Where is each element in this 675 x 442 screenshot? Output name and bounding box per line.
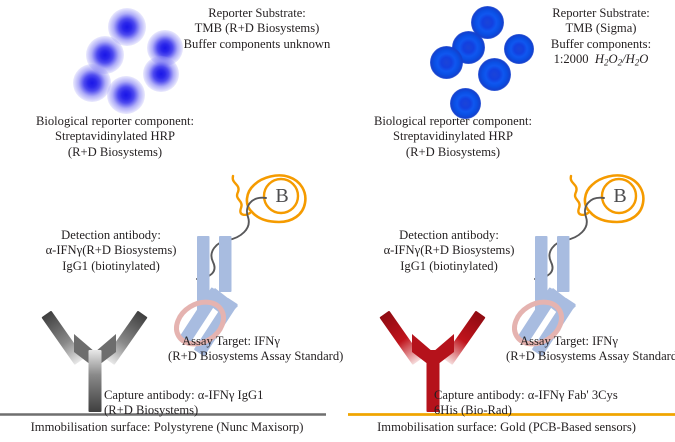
substrate-line-1: Reporter Substrate:: [528, 6, 674, 21]
substrate-line-2: TMB (R+D Biosystems): [178, 21, 336, 36]
substrate-line-1: Reporter Substrate:: [178, 6, 336, 21]
substrate-dot: [73, 64, 111, 102]
capture-line-1: Capture antibody: α-IFNγ Fab' 3Cys: [434, 388, 675, 403]
capture-line-2: (R+D Biosystems): [104, 403, 334, 418]
reporter-line-1: Biological reporter component:: [4, 114, 226, 129]
capture-line-2: 6His (Bio-Rad): [434, 403, 675, 418]
substrate-dot: [107, 76, 145, 114]
assay-target-label-left: Assay Target: IFNγ (R+D Biosystems Assay…: [168, 334, 340, 365]
detection-line-2: α-IFNγ(R+D Biosystems): [364, 243, 534, 258]
surface-label-right: Immobilisation surface: Gold (PCB-Based …: [338, 420, 675, 435]
target-line-1: Assay Target: IFNγ: [506, 334, 675, 349]
panel-elisa-polystyrene: Reporter Substrate: TMB (R+D Biosystems)…: [0, 0, 337, 442]
substrate-dot: [478, 58, 511, 91]
target-line-2: (R+D Biosystems Assay Standard): [506, 349, 675, 364]
detection-line-2: α-IFNγ(R+D Biosystems): [26, 243, 196, 258]
detection-line-1: Detection antibody:: [26, 228, 196, 243]
detection-line-3: IgG1 (biotinylated): [26, 259, 196, 274]
reporter-line-2: Streptavidinylated HRP: [342, 129, 564, 144]
biotin-letter-right: B: [608, 185, 632, 208]
assay-target-label-right: Assay Target: IFNγ (R+D Biosystems Assay…: [506, 334, 675, 365]
reporter-line-3: (R+D Biosystems): [342, 145, 564, 160]
reporter-line-2: Streptavidinylated HRP: [4, 129, 226, 144]
substrate-line-3: Buffer components unknown: [178, 37, 336, 52]
detection-line-3: IgG1 (biotinylated): [364, 259, 534, 274]
detection-antibody-label-left: Detection antibody: α-IFNγ(R+D Biosystem…: [26, 228, 196, 274]
formula-h2o: H2O: [626, 52, 649, 66]
substrate-line-2: TMB (Sigma): [528, 21, 674, 36]
formula-h2o2: H2O2: [592, 52, 622, 66]
detection-line-1: Detection antibody:: [364, 228, 534, 243]
substrate-line-3: Buffer components:: [528, 37, 674, 52]
reporter-line-1: Biological reporter component:: [342, 114, 564, 129]
surface-label-left: Immobilisation surface: Polystyrene (Nun…: [0, 420, 334, 435]
substrate-dot: [430, 46, 463, 79]
substrate-label-right: Reporter Substrate: TMB (Sigma) Buffer c…: [528, 6, 674, 69]
target-line-1: Assay Target: IFNγ: [168, 334, 340, 349]
formula-ratio: 1:2000: [554, 52, 589, 66]
reporter-line-3: (R+D Biosystems): [4, 145, 226, 160]
biotin-letter-left: B: [270, 185, 294, 208]
reporter-label-left: Biological reporter component: Streptavi…: [4, 114, 226, 160]
target-line-2: (R+D Biosystems Assay Standard): [168, 349, 340, 364]
panel-pcb-gold: Reporter Substrate: TMB (Sigma) Buffer c…: [338, 0, 675, 442]
substrate-line-4-formula: 1:2000 H2O2/H2O: [528, 52, 674, 69]
substrate-dot-cloud-right: [338, 0, 538, 125]
substrate-dot: [143, 56, 179, 92]
substrate-dot-cloud-left: [0, 0, 200, 110]
reporter-label-right: Biological reporter component: Streptavi…: [342, 114, 564, 160]
substrate-label-left: Reporter Substrate: TMB (R+D Biosystems)…: [178, 6, 336, 52]
capture-antibody-label-right: Capture antibody: α-IFNγ Fab' 3Cys 6His …: [434, 388, 675, 419]
detection-antibody-label-right: Detection antibody: α-IFNγ(R+D Biosystem…: [364, 228, 534, 274]
capture-antibody-label-left: Capture antibody: α-IFNγ IgG1 (R+D Biosy…: [104, 388, 334, 419]
capture-line-1: Capture antibody: α-IFNγ IgG1: [104, 388, 334, 403]
